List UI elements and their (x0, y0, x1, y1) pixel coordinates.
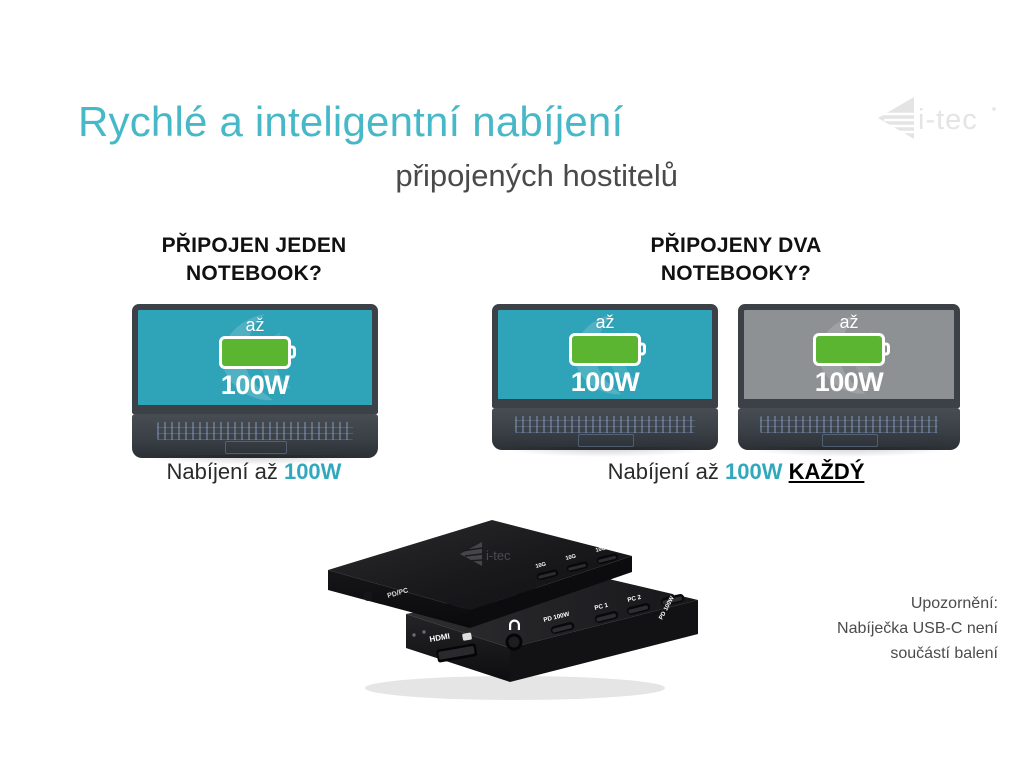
laptop-screen-bezel: až 100W (492, 304, 718, 408)
laptop-screen-bezel: až 100W (132, 304, 378, 414)
laptop-single: až 100W (132, 304, 378, 458)
laptop-screen: až 100W (498, 310, 712, 399)
brand-logo: i-tec (872, 92, 1002, 144)
battery-icon (813, 333, 885, 366)
caption-dual-highlight: 100W (725, 459, 782, 484)
page-title: Rychlé a inteligentní nabíjení (78, 98, 623, 146)
dock-product-image: HDMI PD 100W PC 1 PC 2 (310, 498, 710, 703)
laptop-az-label: až (245, 316, 264, 334)
caption-dual: Nabíjení až 100W KAŽDÝ (536, 459, 936, 485)
laptop-dual-first: až 100W (492, 304, 718, 450)
section-heading-dual-line1: PŘIPOJENY DVA (576, 232, 896, 260)
laptop-touchpad (822, 434, 877, 447)
dock-brand-label: i-tec (486, 548, 511, 563)
i-tec-logo-icon: i-tec (874, 93, 1002, 143)
usb-speed-badge-icon: 10G (658, 583, 671, 592)
battery-icon (569, 333, 641, 366)
laptop-az-label: až (595, 313, 614, 331)
caption-single-highlight: 100W (284, 459, 341, 484)
laptop-screen-bezel: až 100W (738, 304, 960, 408)
laptop-touchpad (578, 434, 634, 447)
caption-single: Nabíjení až 100W (94, 459, 414, 485)
laptop-dual-second: až 100W (738, 304, 960, 450)
laptop-az-label: až (839, 313, 858, 331)
led-indicator (422, 630, 425, 633)
caption-dual-prefix: Nabíjení až (608, 459, 725, 484)
caption-dual-suffix: KAŽDÝ (789, 459, 865, 484)
section-heading-dual-line2: NOTEBOOKY? (576, 260, 896, 288)
laptop-watt-value: 100W (221, 371, 290, 399)
section-heading-single-line1: PŘIPOJEN JEDEN (94, 232, 414, 260)
laptop-keyboard (157, 422, 354, 440)
notice-line-2: Nabíječka USB-C není (718, 617, 998, 642)
notice-line-1: Upozornění: (718, 592, 998, 617)
notice-line-3: součástí balení (718, 642, 998, 667)
laptop-shadow (501, 447, 709, 457)
port-audio-jack (506, 634, 523, 651)
laptop-watt-value: 100W (815, 368, 884, 396)
section-heading-dual: PŘIPOJENY DVA NOTEBOOKY? (576, 232, 896, 289)
laptop-touchpad (225, 441, 286, 454)
laptop-base (738, 408, 960, 450)
section-heading-single: PŘIPOJEN JEDEN NOTEBOOK? (94, 232, 414, 289)
section-heading-single-line2: NOTEBOOK? (94, 260, 414, 288)
caption-single-prefix: Nabíjení až (167, 459, 284, 484)
laptop-base (132, 414, 378, 458)
laptop-watt-value: 100W (571, 368, 640, 396)
laptop-keyboard (515, 416, 696, 434)
svg-text:i-tec: i-tec (918, 104, 978, 136)
laptop-screen: až 100W (138, 310, 372, 405)
battery-icon (219, 336, 291, 369)
page-subtitle: připojených hostitelů (78, 158, 678, 194)
laptop-screen: až 100W (744, 310, 954, 399)
dock-illustration: HDMI PD 100W PC 1 PC 2 (310, 498, 710, 703)
laptop-shadow (747, 447, 951, 457)
led-indicator (412, 633, 415, 636)
notice-block: Upozornění: Nabíječka USB-C není součást… (718, 592, 998, 666)
power-button[interactable] (363, 591, 373, 601)
laptop-keyboard (760, 416, 938, 434)
laptop-base (492, 408, 718, 450)
